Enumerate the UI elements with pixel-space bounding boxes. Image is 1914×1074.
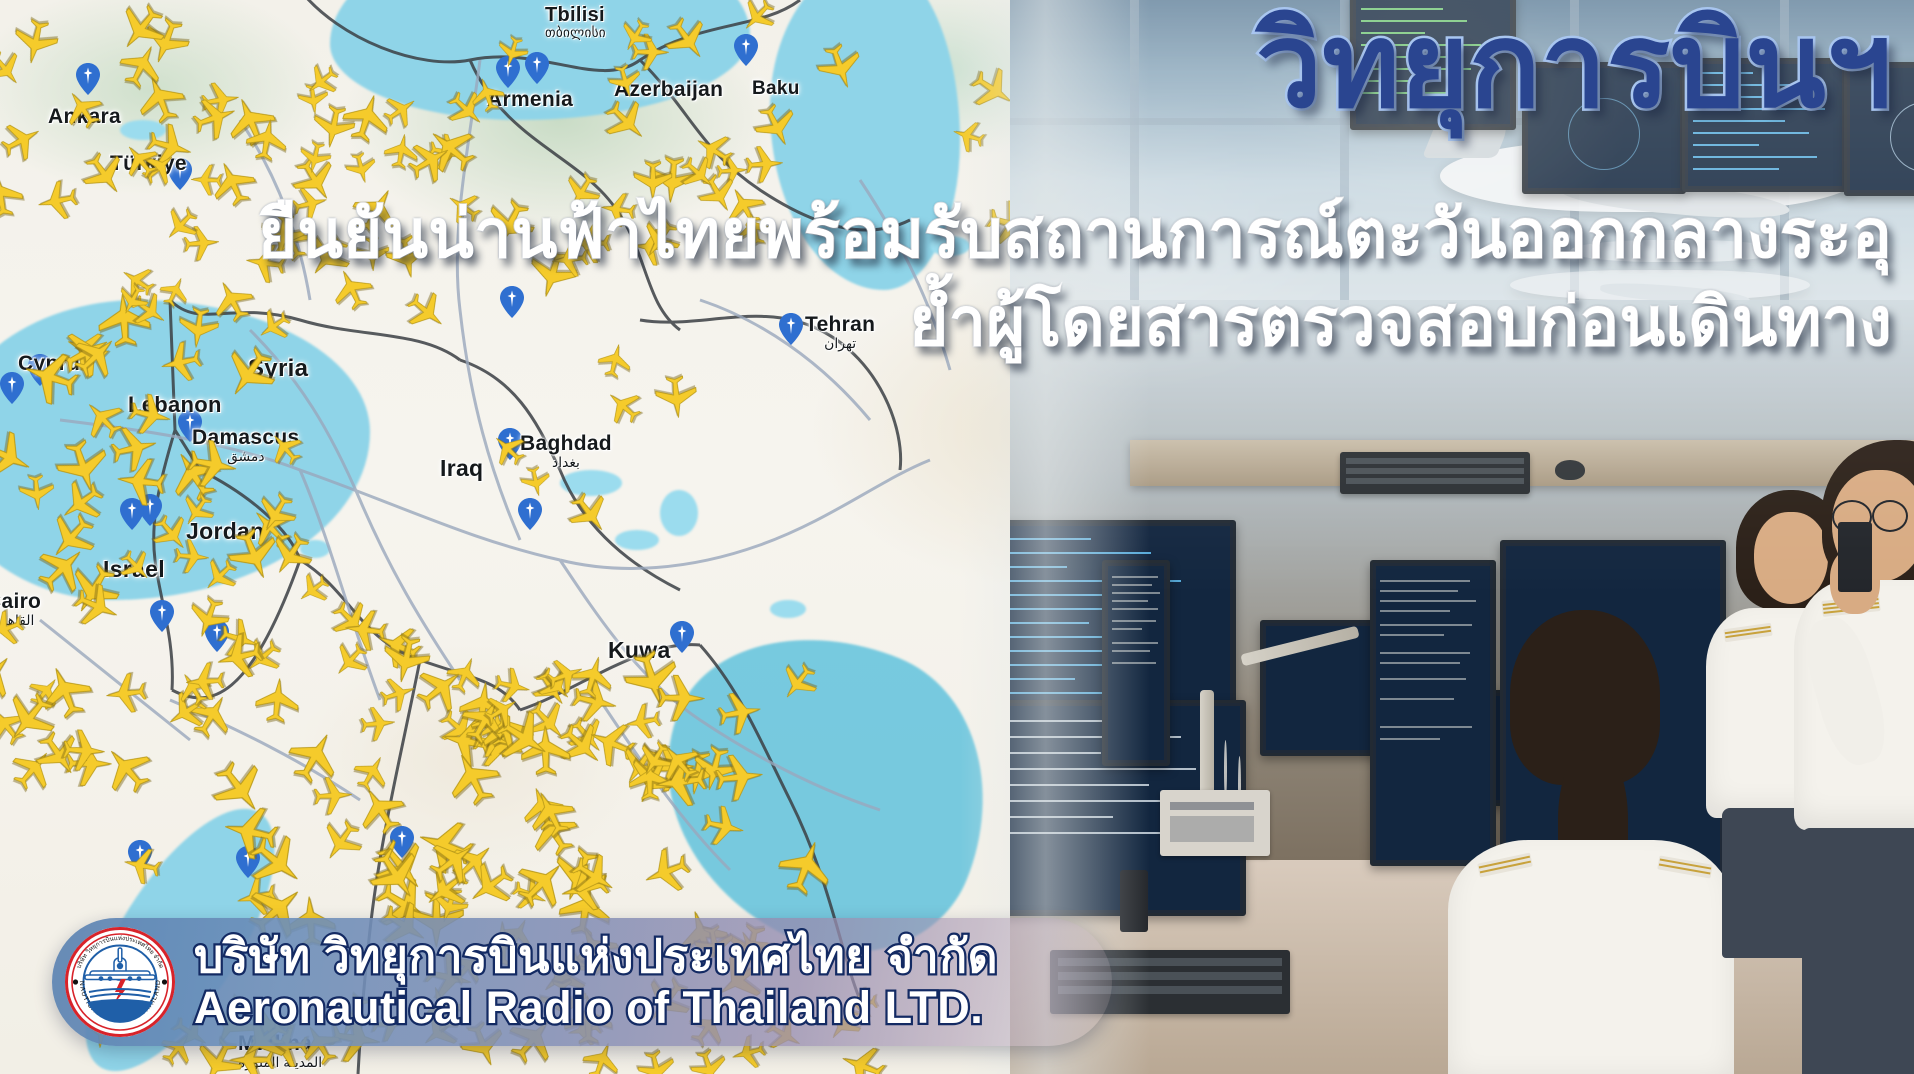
aircraft-icon[interactable]: [313, 775, 354, 816]
aircraft-icon[interactable]: [716, 687, 766, 737]
airport-pin-icon[interactable]: [779, 313, 803, 345]
controller-seated: [1440, 610, 1740, 1074]
aircraft-icon[interactable]: [252, 674, 301, 723]
map-label-tbilisi: Tbilisiთბილისი: [545, 4, 606, 41]
org-name-thai: บริษัท วิทยุการบินแห่งประเทศไทย จำกัด: [194, 931, 998, 983]
aircraft-icon[interactable]: [621, 701, 663, 743]
airport-pin-icon[interactable]: [518, 498, 542, 530]
aircraft-icon[interactable]: [175, 305, 221, 351]
aircraft-icon[interactable]: [744, 144, 785, 185]
keyboard: [1340, 452, 1530, 494]
map-label-tehran: Tehranتهران: [805, 313, 875, 352]
page-title: วิทยุการบินฯ: [1256, 6, 1892, 126]
organisation-banner: บริษัท วิทยุการบินแห่งประเทศไทย จำกัด AE…: [52, 918, 1112, 1046]
handheld-radio[interactable]: [1120, 870, 1148, 932]
aircraft-icon[interactable]: [9, 16, 63, 70]
aircraft-icon[interactable]: [658, 674, 707, 723]
map-label-baku: Baku: [752, 78, 800, 100]
aircraft-icon[interactable]: [33, 177, 80, 224]
airport-pin-icon[interactable]: [500, 286, 524, 318]
organisation-name-block: บริษัท วิทยุการบินแห่งประเทศไทย จำกัด Ae…: [194, 931, 998, 1033]
aircraft-icon[interactable]: [61, 727, 107, 773]
map-label-baghdad: Baghdadبغداد: [520, 432, 612, 471]
airport-pin-icon[interactable]: [525, 52, 549, 84]
document-display: [1102, 560, 1170, 766]
aircraft-icon[interactable]: [653, 374, 700, 421]
airport-pin-icon[interactable]: [670, 621, 694, 653]
atc-photograph: [1010, 0, 1914, 1074]
map-label-iraq: Iraq: [440, 455, 483, 482]
airport-pin-icon[interactable]: [150, 600, 174, 632]
org-name-english: Aeronautical Radio of Thailand LTD.: [194, 983, 998, 1033]
aerothai-logo: บริษัท วิทยุการบินแห่งประเทศไทย จำกัด AE…: [64, 926, 176, 1038]
controller-supervisor: [1780, 440, 1914, 1070]
aircraft-icon[interactable]: [377, 631, 434, 688]
aircraft-icon[interactable]: [243, 115, 292, 164]
aircraft-icon[interactable]: [519, 464, 554, 499]
poster-canvas: AnkaraTürkiyeTbilisiთბილისიArmeniaAzerba…: [0, 0, 1914, 1074]
aircraft-icon[interactable]: [359, 704, 397, 742]
subtitle-line-2: ย้ำผู้โดยสารตรวจสอบก่อนเดินทาง: [909, 268, 1892, 375]
aircraft-icon[interactable]: [185, 436, 242, 493]
aircraft-icon[interactable]: [103, 671, 148, 716]
aircraft-icon[interactable]: [700, 802, 749, 851]
desk-phone[interactable]: [1160, 790, 1270, 856]
mouse[interactable]: [1555, 460, 1585, 480]
aircraft-icon[interactable]: [18, 474, 57, 513]
aircraft-icon[interactable]: [713, 750, 766, 803]
airport-pin-icon[interactable]: [734, 34, 758, 66]
